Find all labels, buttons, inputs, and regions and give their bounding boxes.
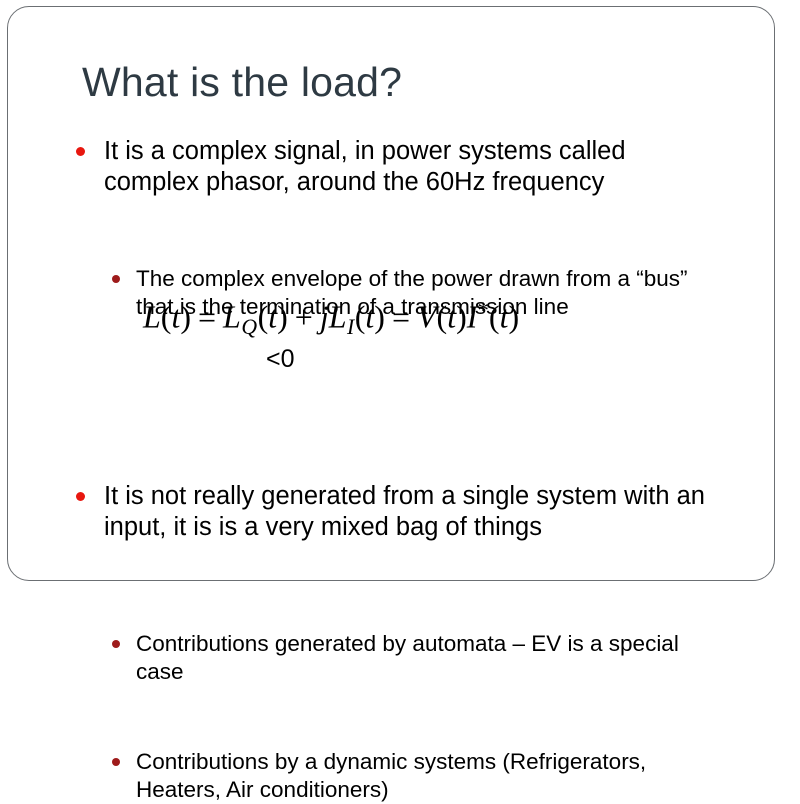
bullet-level2-automata-ev: Contributions generated by automata – EV… (112, 630, 716, 686)
page-title: What is the load? (82, 58, 402, 106)
equation-open-paren: ( (489, 299, 500, 335)
equation-equals: = (392, 299, 410, 335)
equation-open-paren: ( (258, 299, 269, 335)
equation-close-paren: ) (508, 299, 519, 335)
bullet-marker-icon (112, 758, 120, 766)
equation-term1-subscript: Q (241, 315, 257, 339)
bullet-text: It is a complex signal, in power systems… (104, 136, 716, 198)
equation-open-paren: ( (355, 299, 366, 335)
equation-term1-symbol: L (223, 299, 241, 335)
equation-variable: t (447, 299, 456, 335)
equation-voltage-symbol: V (417, 299, 437, 335)
bullet-marker-icon (112, 275, 120, 283)
bullet-marker-icon (76, 147, 85, 156)
equation-open-paren: ( (161, 299, 172, 335)
equation-open-paren: ( (437, 299, 448, 335)
equation-variable: t (365, 299, 374, 335)
equation-variable: t (268, 299, 277, 335)
annotation-less-than-zero: <0 (266, 345, 295, 373)
bullet-level2-dynamic-systems: Contributions by a dynamic systems (Refr… (112, 748, 716, 804)
equation-lhs-symbol: L (143, 299, 161, 335)
equation-conjugate-superscript: * (477, 297, 489, 323)
equation-equals: = (198, 299, 216, 335)
equation-variable: t (171, 299, 180, 335)
bullet-marker-icon (112, 640, 120, 648)
slide-canvas: What is the load? It is a complex signal… (0, 0, 800, 599)
equation-close-paren: ) (374, 299, 385, 335)
equation-load-complex-power: L(t)=LQ(t)+jLI(t)=V(t)I*(t) (143, 289, 519, 348)
equation-plus: + (295, 299, 313, 335)
bullet-text: Contributions generated by automata – EV… (136, 630, 716, 686)
equation-term2-subscript: I (347, 315, 354, 339)
bullet-level1-complex-signal: It is a complex signal, in power systems… (76, 136, 716, 198)
equation-close-paren: ) (456, 299, 467, 335)
bullet-text: Contributions by a dynamic systems (Refr… (136, 748, 716, 804)
bullet-level1-not-generated: It is not really generated from a single… (76, 481, 716, 543)
bullet-text: It is not really generated from a single… (104, 481, 716, 543)
equation-current-symbol: I (467, 299, 478, 335)
equation-imaginary-unit: j (320, 299, 329, 335)
equation-term2-symbol: L (329, 299, 347, 335)
equation-close-paren: ) (277, 299, 288, 335)
bullet-marker-icon (76, 492, 85, 501)
equation-close-paren: ) (180, 299, 191, 335)
